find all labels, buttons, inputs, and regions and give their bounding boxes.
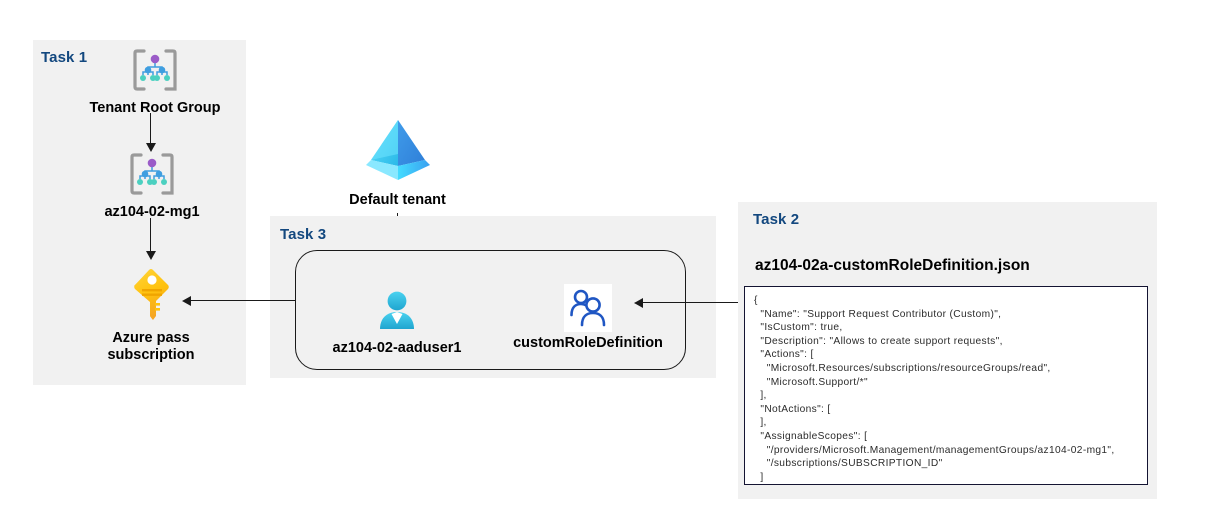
diagram-canvas: Task 1 Tenant Root Group [0,0,1212,522]
role-definition-icon [564,284,612,332]
json-code-box: { "Name": "Support Request Contributor (… [744,286,1148,485]
user-icon [312,288,482,337]
node-tenant-root-group: Tenant Root Group [76,48,234,117]
node-az104-02-aaduser1: az104-02-aaduser1 [312,288,482,357]
node-caption: customRoleDefinition [500,335,676,352]
management-group-icon [76,48,234,97]
key-icon [86,266,216,327]
json-code-content: { "Name": "Support Request Contributor (… [745,287,1147,485]
node-default-tenant: Default tenant [330,116,465,209]
node-caption-line1: Azure pass [86,330,216,347]
node-caption: Default tenant [330,192,465,209]
node-caption-line2: subscription [86,347,216,364]
node-caption: Tenant Root Group [76,100,234,117]
node-custom-role-definition: customRoleDefinition [500,284,676,352]
node-caption: az104-02-mg1 [76,204,228,221]
node-azure-pass-subscription: Azure pass subscription [86,266,216,364]
azure-active-directory-icon [330,116,465,189]
node-az104-02-mg1: az104-02-mg1 [76,152,228,221]
management-group-icon [76,152,228,201]
task3-label: Task 3 [280,226,326,243]
task2-label: Task 2 [753,211,799,228]
node-caption: az104-02-aaduser1 [312,340,482,357]
json-file-name: az104-02a-customRoleDefinition.json [755,257,1030,275]
